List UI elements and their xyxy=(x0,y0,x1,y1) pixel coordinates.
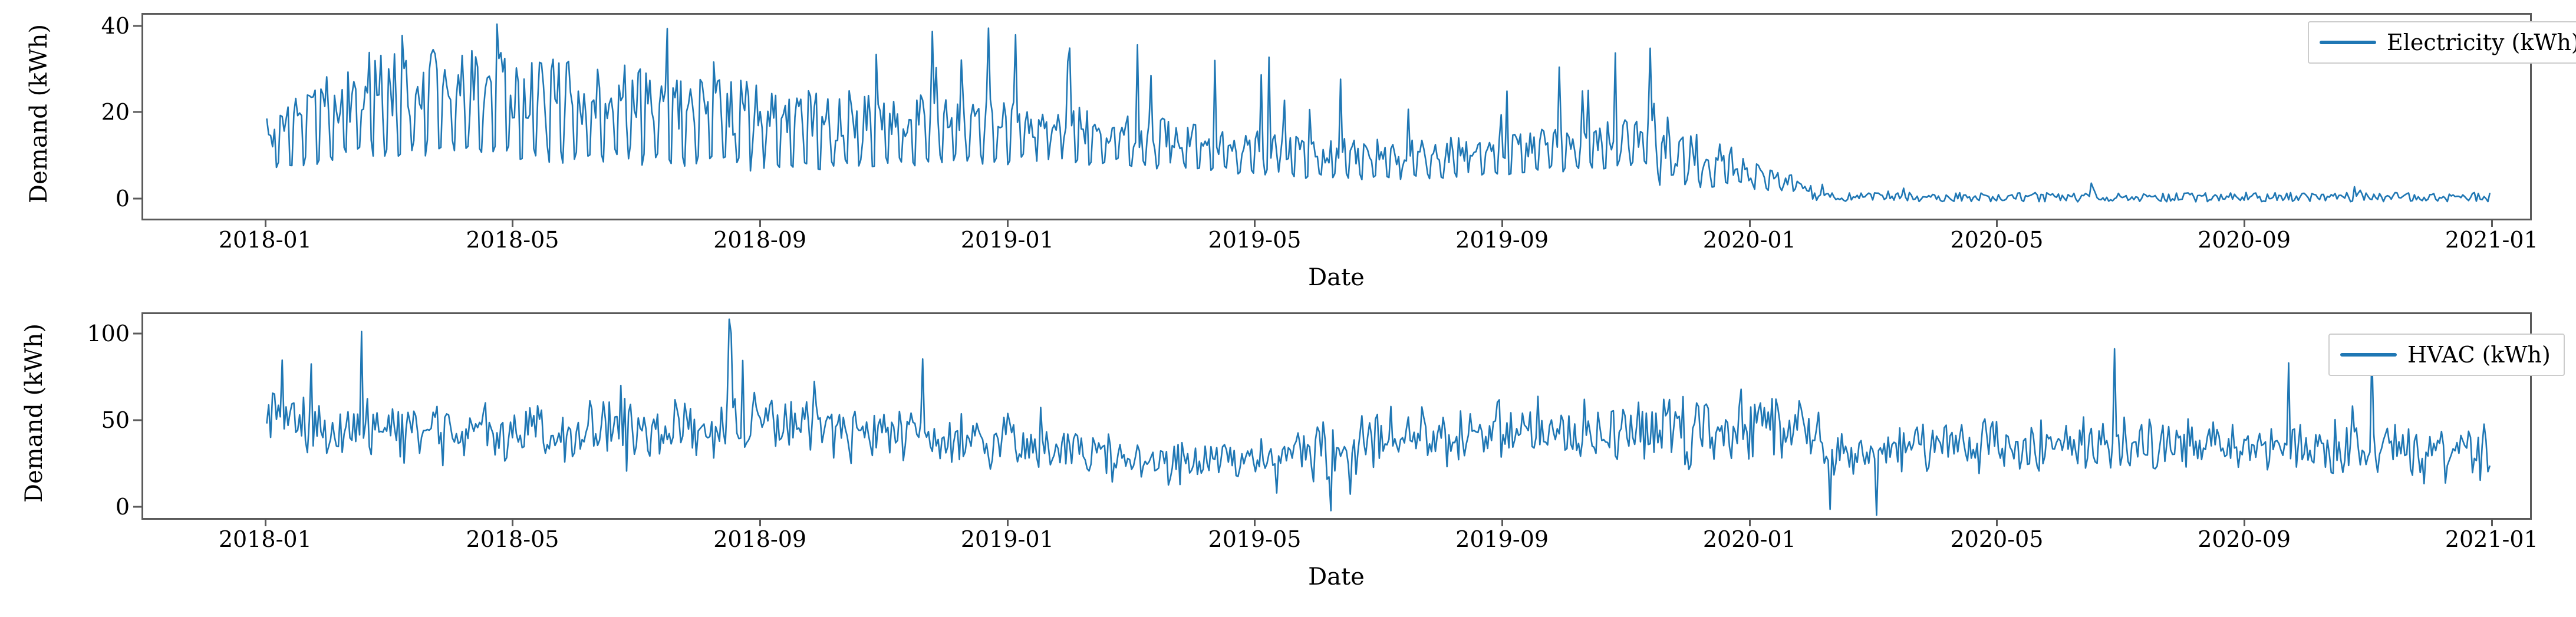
x-tick-mark xyxy=(512,219,513,227)
x-tick-label: 2020-05 xyxy=(1951,526,2044,552)
x-tick-label: 2018-01 xyxy=(219,526,312,552)
x-tick-mark xyxy=(1996,518,1998,526)
x-tick-mark xyxy=(1254,219,1256,227)
x-tick-label: 2018-09 xyxy=(713,227,806,253)
x-tick-label: 2021-01 xyxy=(2445,227,2538,253)
chart-hvac xyxy=(141,312,2532,520)
x-tick-label: 2019-01 xyxy=(961,227,1054,253)
figure-canvas: Demand (kWh) 40 20 0 Electricity (kWh) 2… xyxy=(0,0,2576,617)
x-tick-mark xyxy=(1996,219,1998,227)
x-tick-mark xyxy=(2491,219,2493,227)
y-tick-mark-electricity-0 xyxy=(133,198,141,200)
y-tick-label-hvac-50: 50 xyxy=(35,407,130,433)
y-axis-label-electricity: Demand (kWh) xyxy=(25,10,52,217)
x-tick-mark xyxy=(1501,219,1503,227)
x-tick-label: 2020-05 xyxy=(1951,227,2044,253)
y-tick-mark-hvac-0 xyxy=(133,506,141,508)
plot-area-hvac xyxy=(143,314,2530,518)
x-tick-label: 2019-09 xyxy=(1455,526,1549,552)
y-tick-mark-hvac-100 xyxy=(133,333,141,335)
y-tick-mark-electricity-40 xyxy=(133,25,141,27)
legend-swatch-hvac-icon xyxy=(2340,353,2397,357)
y-tick-label-electricity-0: 0 xyxy=(53,186,130,212)
x-tick-mark xyxy=(265,518,266,526)
x-tick-mark xyxy=(1749,518,1751,526)
legend-swatch-electricity-icon xyxy=(2320,41,2376,44)
y-tick-label-hvac-100: 100 xyxy=(35,321,130,347)
x-tick-mark xyxy=(759,219,761,227)
plot-area-electricity xyxy=(143,15,2530,219)
legend-hvac: HVAC (kWh) xyxy=(2328,334,2565,376)
y-tick-mark-hvac-50 xyxy=(133,420,141,421)
x-tick-label: 2019-05 xyxy=(1208,526,1302,552)
legend-label-hvac: HVAC (kWh) xyxy=(2407,342,2551,368)
x-tick-mark xyxy=(2244,219,2245,227)
x-tick-label: 2019-05 xyxy=(1208,227,1302,253)
x-tick-mark xyxy=(759,518,761,526)
x-tick-mark xyxy=(1007,518,1009,526)
x-tick-label: 2019-09 xyxy=(1455,227,1549,253)
x-tick-mark xyxy=(2491,518,2493,526)
x-tick-label: 2020-01 xyxy=(1703,526,1796,552)
y-tick-label-electricity-20: 20 xyxy=(53,99,130,125)
legend-electricity: Electricity (kWh) xyxy=(2308,21,2576,64)
x-tick-label: 2021-01 xyxy=(2445,526,2538,552)
x-axis-label-hvac: Date xyxy=(1308,563,1365,590)
chart-electricity xyxy=(141,13,2532,220)
x-tick-mark xyxy=(1749,219,1751,227)
x-tick-label: 2020-09 xyxy=(2198,526,2291,552)
x-tick-label: 2018-01 xyxy=(219,227,312,253)
x-tick-label: 2020-01 xyxy=(1703,227,1796,253)
x-tick-mark xyxy=(1501,518,1503,526)
y-tick-label-hvac-0: 0 xyxy=(35,494,130,520)
x-tick-label: 2019-01 xyxy=(961,526,1054,552)
x-tick-mark xyxy=(2244,518,2245,526)
x-tick-mark xyxy=(265,219,266,227)
x-tick-mark xyxy=(1007,219,1009,227)
series-line-electricity xyxy=(143,15,2530,219)
x-tick-label: 2018-09 xyxy=(713,526,806,552)
y-tick-label-electricity-40: 40 xyxy=(53,13,130,39)
x-tick-mark xyxy=(1254,518,1256,526)
x-tick-mark xyxy=(512,518,513,526)
y-tick-mark-electricity-20 xyxy=(133,111,141,113)
x-tick-label: 2018-05 xyxy=(466,526,559,552)
series-line-hvac xyxy=(143,314,2530,518)
x-axis-label-electricity: Date xyxy=(1308,264,1365,291)
legend-label-electricity: Electricity (kWh) xyxy=(2387,29,2576,55)
x-tick-label: 2018-05 xyxy=(466,227,559,253)
x-tick-label: 2020-09 xyxy=(2198,227,2291,253)
